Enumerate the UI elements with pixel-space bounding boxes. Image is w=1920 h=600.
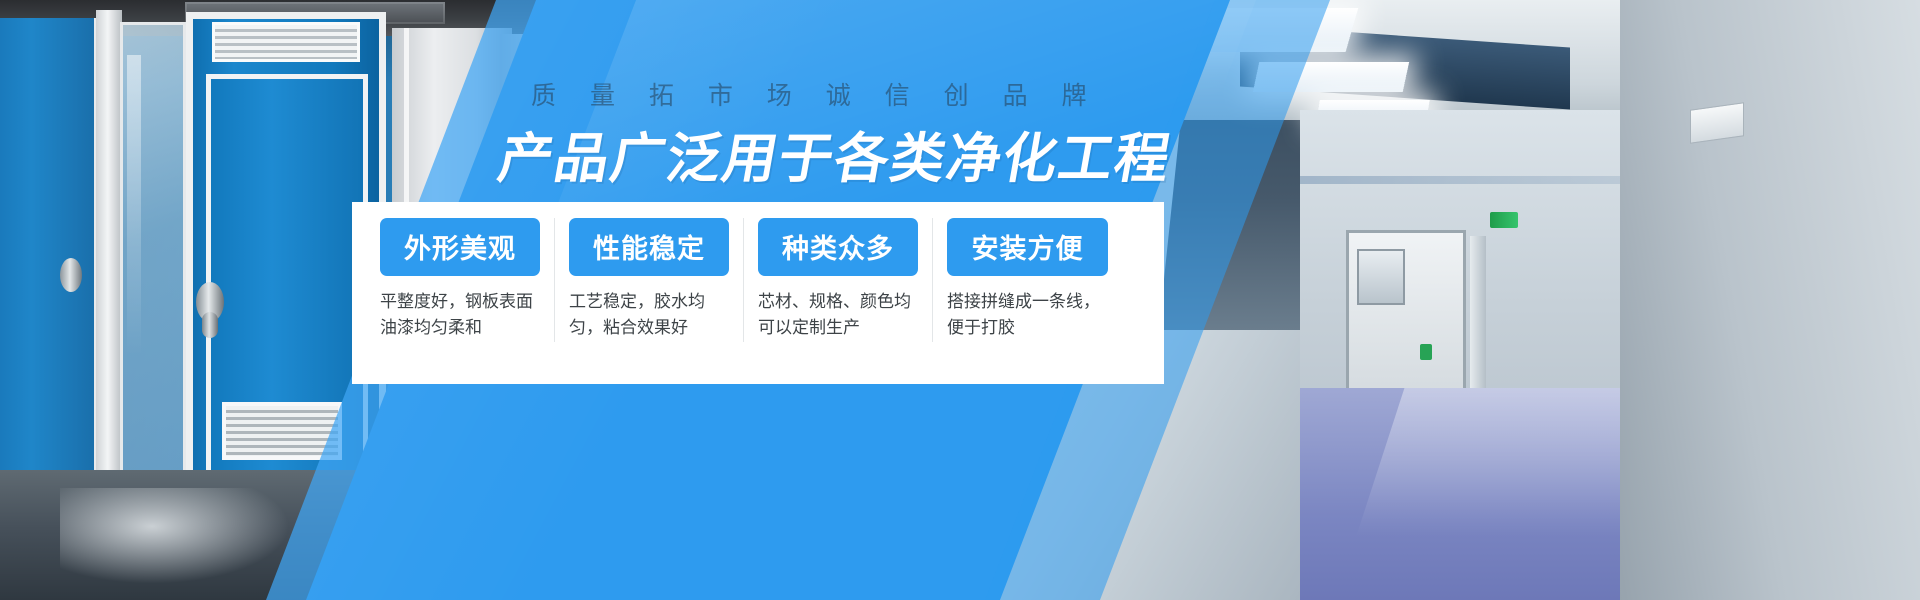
feature-body-4: 搭接拼缝成一条线，便于打胶 bbox=[947, 290, 1108, 342]
feature-title-3: 种类众多 bbox=[758, 218, 918, 276]
feature-card-3: 种类众多 芯材、规格、颜色均可以定制生产 bbox=[744, 218, 933, 342]
feature-body-3: 芯材、规格、颜色均可以定制生产 bbox=[758, 290, 918, 342]
feature-title-1: 外形美观 bbox=[380, 218, 540, 276]
feature-title-4: 安装方便 bbox=[947, 218, 1108, 276]
feature-card-2: 性能稳定 工艺稳定，胶水均匀，粘合效果好 bbox=[555, 218, 744, 342]
feature-body-2: 工艺稳定，胶水均匀，粘合效果好 bbox=[569, 290, 729, 342]
feature-card-4: 安装方便 搭接拼缝成一条线，便于打胶 bbox=[933, 218, 1122, 342]
feature-body-1: 平整度好，钢板表面油漆均匀柔和 bbox=[380, 290, 540, 342]
promo-banner: 质 量 拓 市 场 诚 信 创 品 牌 产品广泛用于各类净化工程 外形美观 平整… bbox=[0, 0, 1920, 600]
feature-title-2: 性能稳定 bbox=[569, 218, 729, 276]
feature-panel: 外形美观 平整度好，钢板表面油漆均匀柔和 性能稳定 工艺稳定，胶水均匀，粘合效果… bbox=[352, 202, 1164, 384]
feature-card-1: 外形美观 平整度好，钢板表面油漆均匀柔和 bbox=[366, 218, 555, 342]
